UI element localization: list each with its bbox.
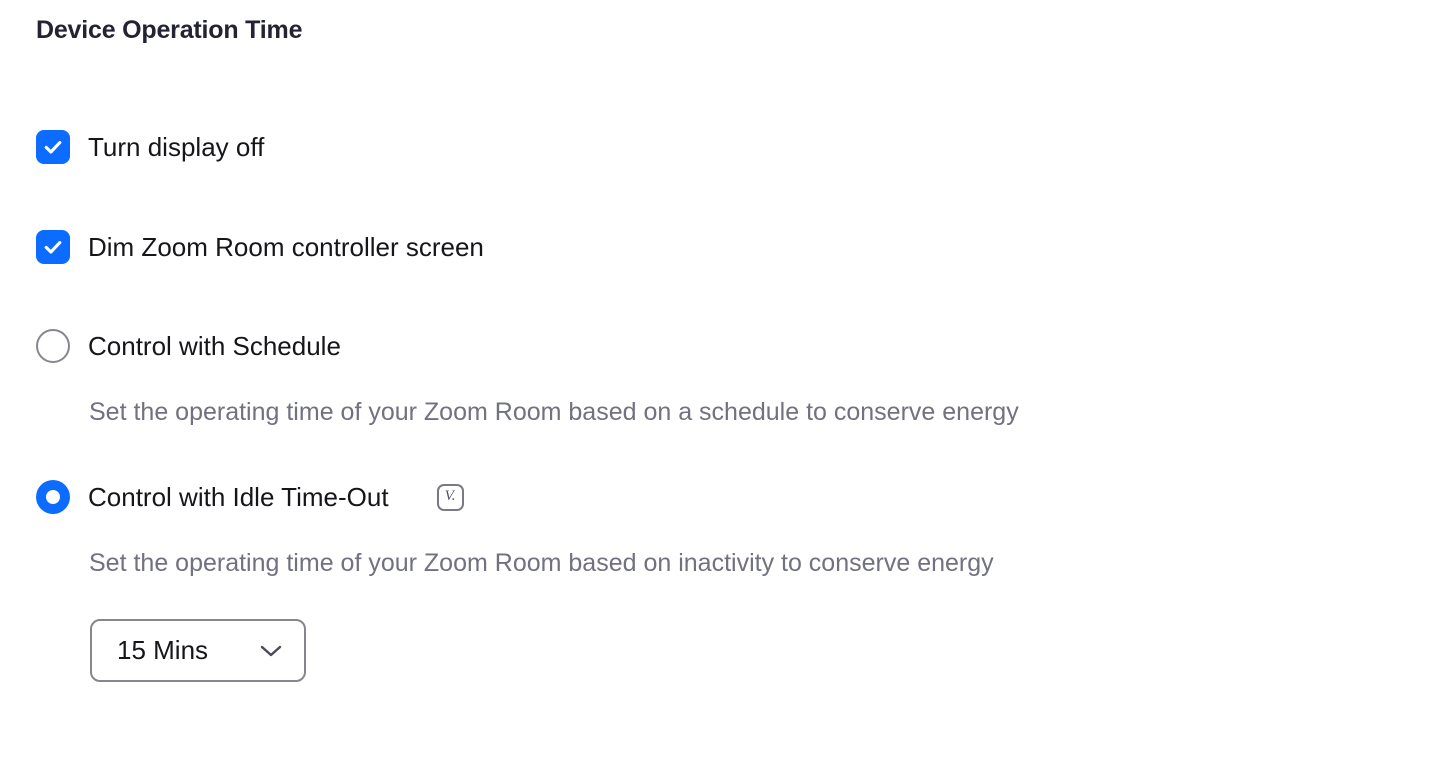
idle-timeout-select[interactable]: 15 Mins <box>90 619 306 682</box>
option-row-turn-display-off[interactable]: Turn display off <box>36 130 264 164</box>
check-icon <box>42 236 64 258</box>
idle-timeout-select-value: 15 Mins <box>117 635 208 666</box>
chevron-down-glyph <box>260 644 282 658</box>
radio-unselected-icon-control-with-schedule[interactable] <box>36 329 70 363</box>
version-badge-icon[interactable]: V. <box>437 484 464 511</box>
device-operation-time-panel: Device Operation Time Turn display off D… <box>0 0 1446 758</box>
radio-inner-hole <box>46 490 60 504</box>
option-label-dim-controller-screen: Dim Zoom Room controller screen <box>88 234 484 260</box>
radio-selected-icon-control-with-idle-timeout[interactable] <box>36 480 70 514</box>
option-description-control-with-schedule: Set the operating time of your Zoom Room… <box>89 400 1019 425</box>
option-label-turn-display-off: Turn display off <box>88 134 264 160</box>
option-row-control-with-idle-timeout[interactable]: Control with Idle Time-Out V. <box>36 480 464 514</box>
option-row-control-with-schedule[interactable]: Control with Schedule <box>36 329 341 363</box>
option-label-control-with-idle-timeout: Control with Idle Time-Out <box>88 484 389 510</box>
option-row-dim-controller-screen[interactable]: Dim Zoom Room controller screen <box>36 230 484 264</box>
check-icon <box>42 136 64 158</box>
checkbox-turn-display-off[interactable] <box>36 130 70 164</box>
option-label-control-with-schedule: Control with Schedule <box>88 333 341 359</box>
version-badge-label: V. <box>445 489 456 504</box>
chevron-down-icon[interactable] <box>260 644 282 658</box>
checkbox-dim-controller-screen[interactable] <box>36 230 70 264</box>
option-description-control-with-idle-timeout: Set the operating time of your Zoom Room… <box>89 551 994 576</box>
page-title: Device Operation Time <box>36 16 302 45</box>
